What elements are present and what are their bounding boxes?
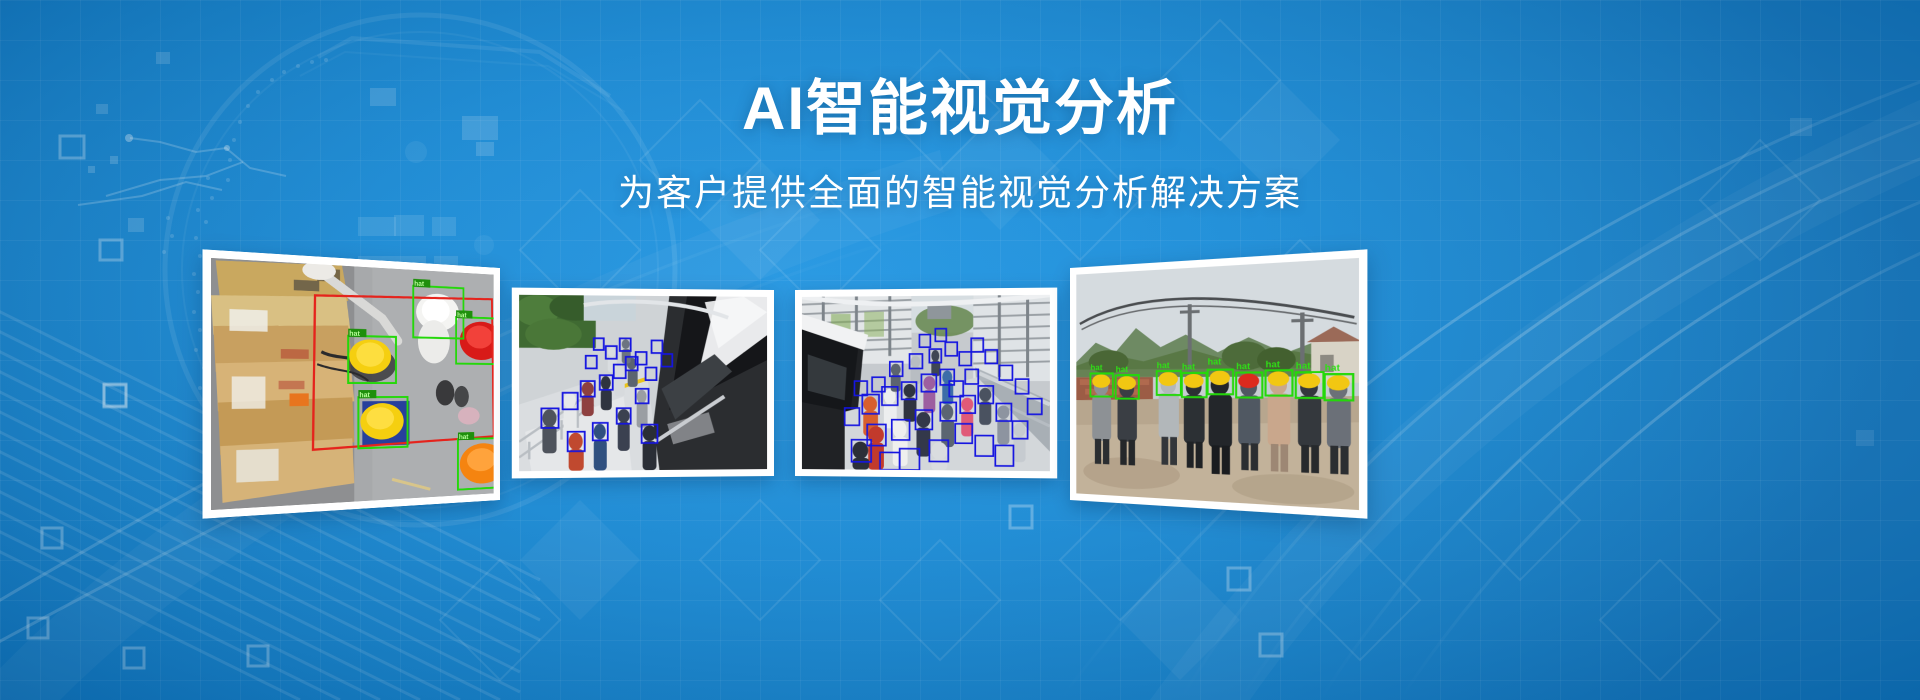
svg-text:hat: hat: [1182, 362, 1196, 372]
svg-text:hat: hat: [1266, 359, 1281, 370]
svg-text:hat: hat: [1208, 357, 1222, 367]
photo-hard-hat-detection-warehouse: hat hat hat hat hat: [211, 258, 494, 510]
svg-text:hat: hat: [359, 392, 370, 399]
svg-text:hat: hat: [1236, 361, 1250, 371]
photo-crowd-face-detection-bridge: [519, 295, 767, 471]
photo-crowd-density-walkway: [802, 295, 1050, 471]
svg-text:hat: hat: [349, 331, 360, 339]
photo-artwork-walkway: [802, 295, 1050, 471]
svg-text:hat: hat: [1325, 363, 1341, 374]
photo-artwork-bridge: [519, 295, 767, 471]
svg-text:hat: hat: [1296, 361, 1311, 372]
gallery-card-helmet-detection-outdoor[interactable]: hat hat hat hat hat hat hat hat hat: [1070, 249, 1367, 518]
photo-helmet-detection-outdoor: hat hat hat hat hat hat hat hat hat: [1076, 258, 1359, 510]
louvre-wall-right: [973, 295, 1050, 381]
hero-text-block: AI智能视觉分析 为客户提供全面的智能视觉分析解决方案: [0, 74, 1920, 214]
page-title: AI智能视觉分析: [0, 74, 1920, 145]
svg-text:hat: hat: [1090, 363, 1102, 373]
page-subtitle: 为客户提供全面的智能视觉分析解决方案: [0, 171, 1920, 214]
svg-text:hat: hat: [459, 434, 469, 441]
svg-text:hat: hat: [1116, 365, 1129, 375]
svg-text:hat: hat: [414, 281, 425, 289]
ai-vision-hero-banner: AI智能视觉分析 为客户提供全面的智能视觉分析解决方案: [0, 0, 1920, 700]
photo-artwork-outdoor: hat hat hat hat hat hat hat hat hat: [1076, 258, 1359, 510]
gallery-card-crowd-density-walkway[interactable]: [795, 288, 1057, 479]
detection-sample-gallery: hat hat hat hat hat: [0, 258, 1920, 528]
gallery-card-crowd-face-detection-bridge[interactable]: [512, 288, 774, 479]
svg-text:hat: hat: [457, 312, 467, 319]
svg-text:hat: hat: [1157, 360, 1170, 370]
photo-artwork-warehouse: hat hat hat hat hat: [211, 258, 494, 510]
gallery-card-hard-hat-detection-warehouse[interactable]: hat hat hat hat hat: [203, 249, 500, 518]
worker-yellow-helmet-2: [360, 401, 409, 446]
